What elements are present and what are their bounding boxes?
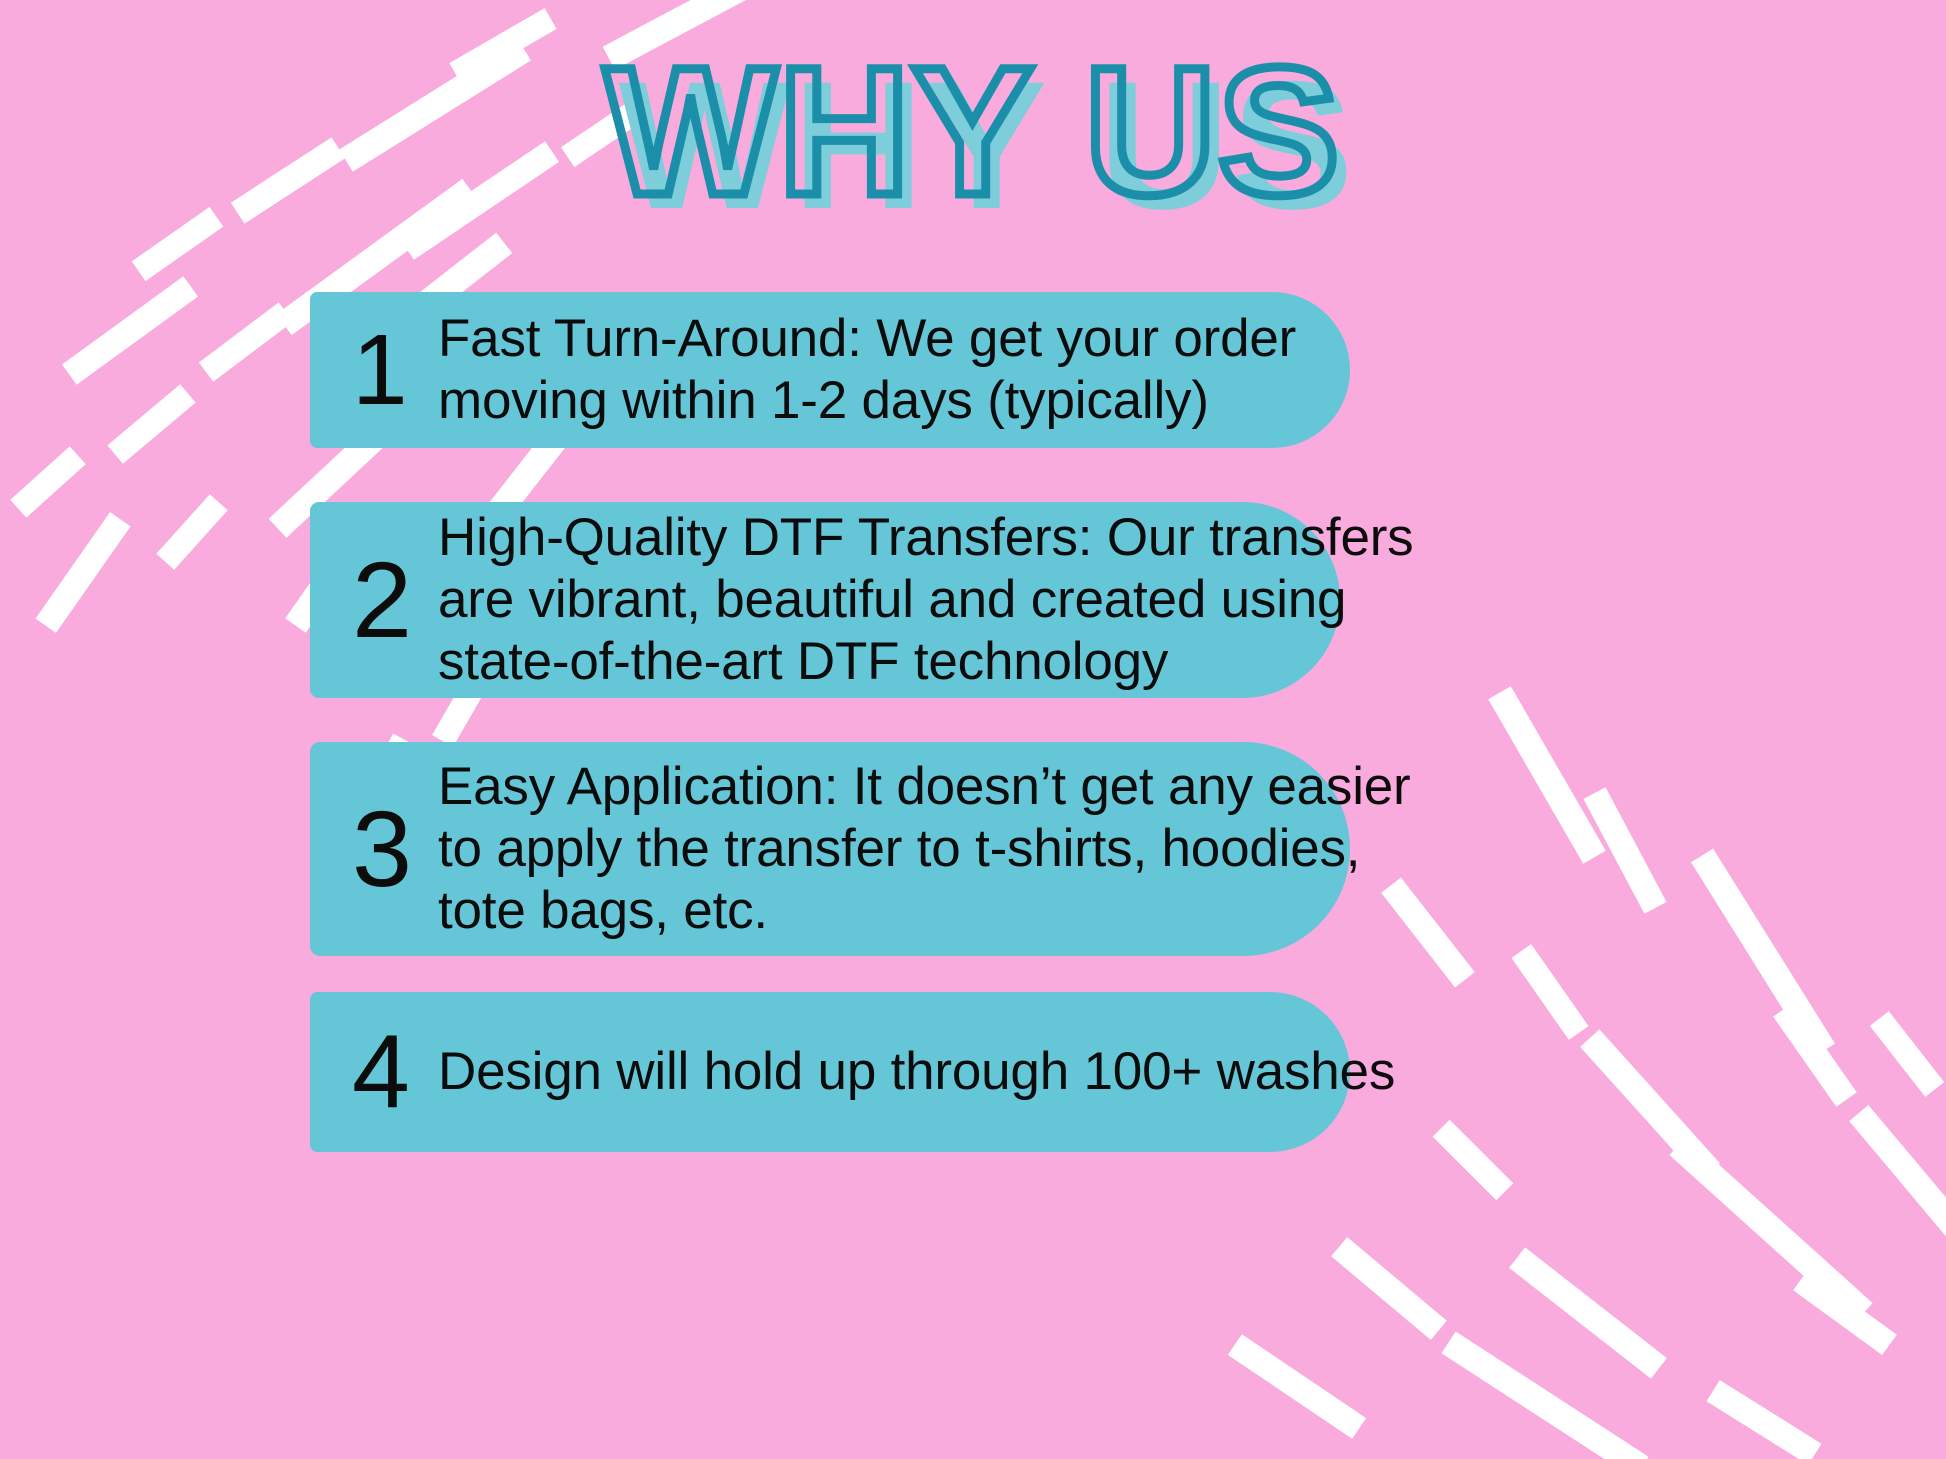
- benefit-text-line: state-of-the-art DTF technology: [438, 631, 1413, 693]
- benefit-text-line: tote bags, etc.: [438, 880, 1411, 942]
- dash-stripe: [1870, 1011, 1944, 1097]
- dash-stripe: [1228, 1334, 1366, 1439]
- benefit-text-line: High-Quality DTF Transfers: Our transfer…: [438, 507, 1413, 569]
- dash-stripe: [1691, 849, 1835, 1058]
- dash-stripe: [1669, 1136, 1872, 1323]
- dash-stripe: [10, 446, 86, 517]
- dash-stripe: [156, 494, 227, 570]
- benefit-number: 4: [352, 1020, 438, 1124]
- benefit-card-3[interactable]: 3 Easy Application: It doesn’t get any e…: [310, 742, 1350, 956]
- benefit-text: Fast Turn-Around: We get your order movi…: [438, 308, 1310, 432]
- page-title: WHY US WHY US: [0, 46, 1946, 236]
- benefit-text-line: Design will hold up through 100+ washes: [438, 1041, 1395, 1103]
- benefit-number: 3: [352, 795, 438, 903]
- benefit-text: Easy Application: It doesn’t get any eas…: [438, 756, 1411, 942]
- dash-stripe: [1773, 1002, 1857, 1106]
- benefit-text: Design will hold up through 100+ washes: [438, 1041, 1395, 1103]
- poster-canvas: WHY US WHY US 1 Fast Turn-Around: We get…: [0, 0, 1946, 1459]
- dash-stripe: [1331, 1237, 1447, 1340]
- benefit-number: 2: [352, 546, 438, 654]
- benefit-text-line: to apply the transfer to t-shirts, hoodi…: [438, 818, 1411, 880]
- benefit-text-line: Fast Turn-Around: We get your order: [438, 308, 1310, 370]
- benefit-number: 1: [352, 320, 438, 420]
- benefits-list: 1 Fast Turn-Around: We get your order mo…: [310, 292, 1670, 1152]
- dash-stripe: [107, 384, 195, 463]
- dash-stripe: [199, 302, 293, 381]
- dash-stripe: [1706, 1380, 1821, 1459]
- dash-stripe: [1849, 1105, 1946, 1236]
- benefit-card-1[interactable]: 1 Fast Turn-Around: We get your order mo…: [310, 292, 1350, 448]
- benefit-card-2[interactable]: 2 High-Quality DTF Transfers: Our transf…: [310, 502, 1340, 698]
- benefit-text: High-Quality DTF Transfers: Our transfer…: [438, 507, 1413, 693]
- dash-stripe: [1441, 1331, 1648, 1459]
- dash-stripe: [1509, 1247, 1667, 1378]
- title-outline-layer: WHY US: [0, 46, 1946, 216]
- dash-stripe: [1793, 1270, 1897, 1355]
- dash-stripe: [35, 512, 130, 633]
- benefit-card-4[interactable]: 4 Design will hold up through 100+ washe…: [310, 992, 1350, 1152]
- benefit-text-line: are vibrant, beautiful and created using: [438, 569, 1413, 631]
- benefit-text-line: Easy Application: It doesn’t get any eas…: [438, 756, 1411, 818]
- benefit-text-line: moving within 1-2 days (typically): [438, 370, 1310, 432]
- dash-stripe: [62, 276, 198, 384]
